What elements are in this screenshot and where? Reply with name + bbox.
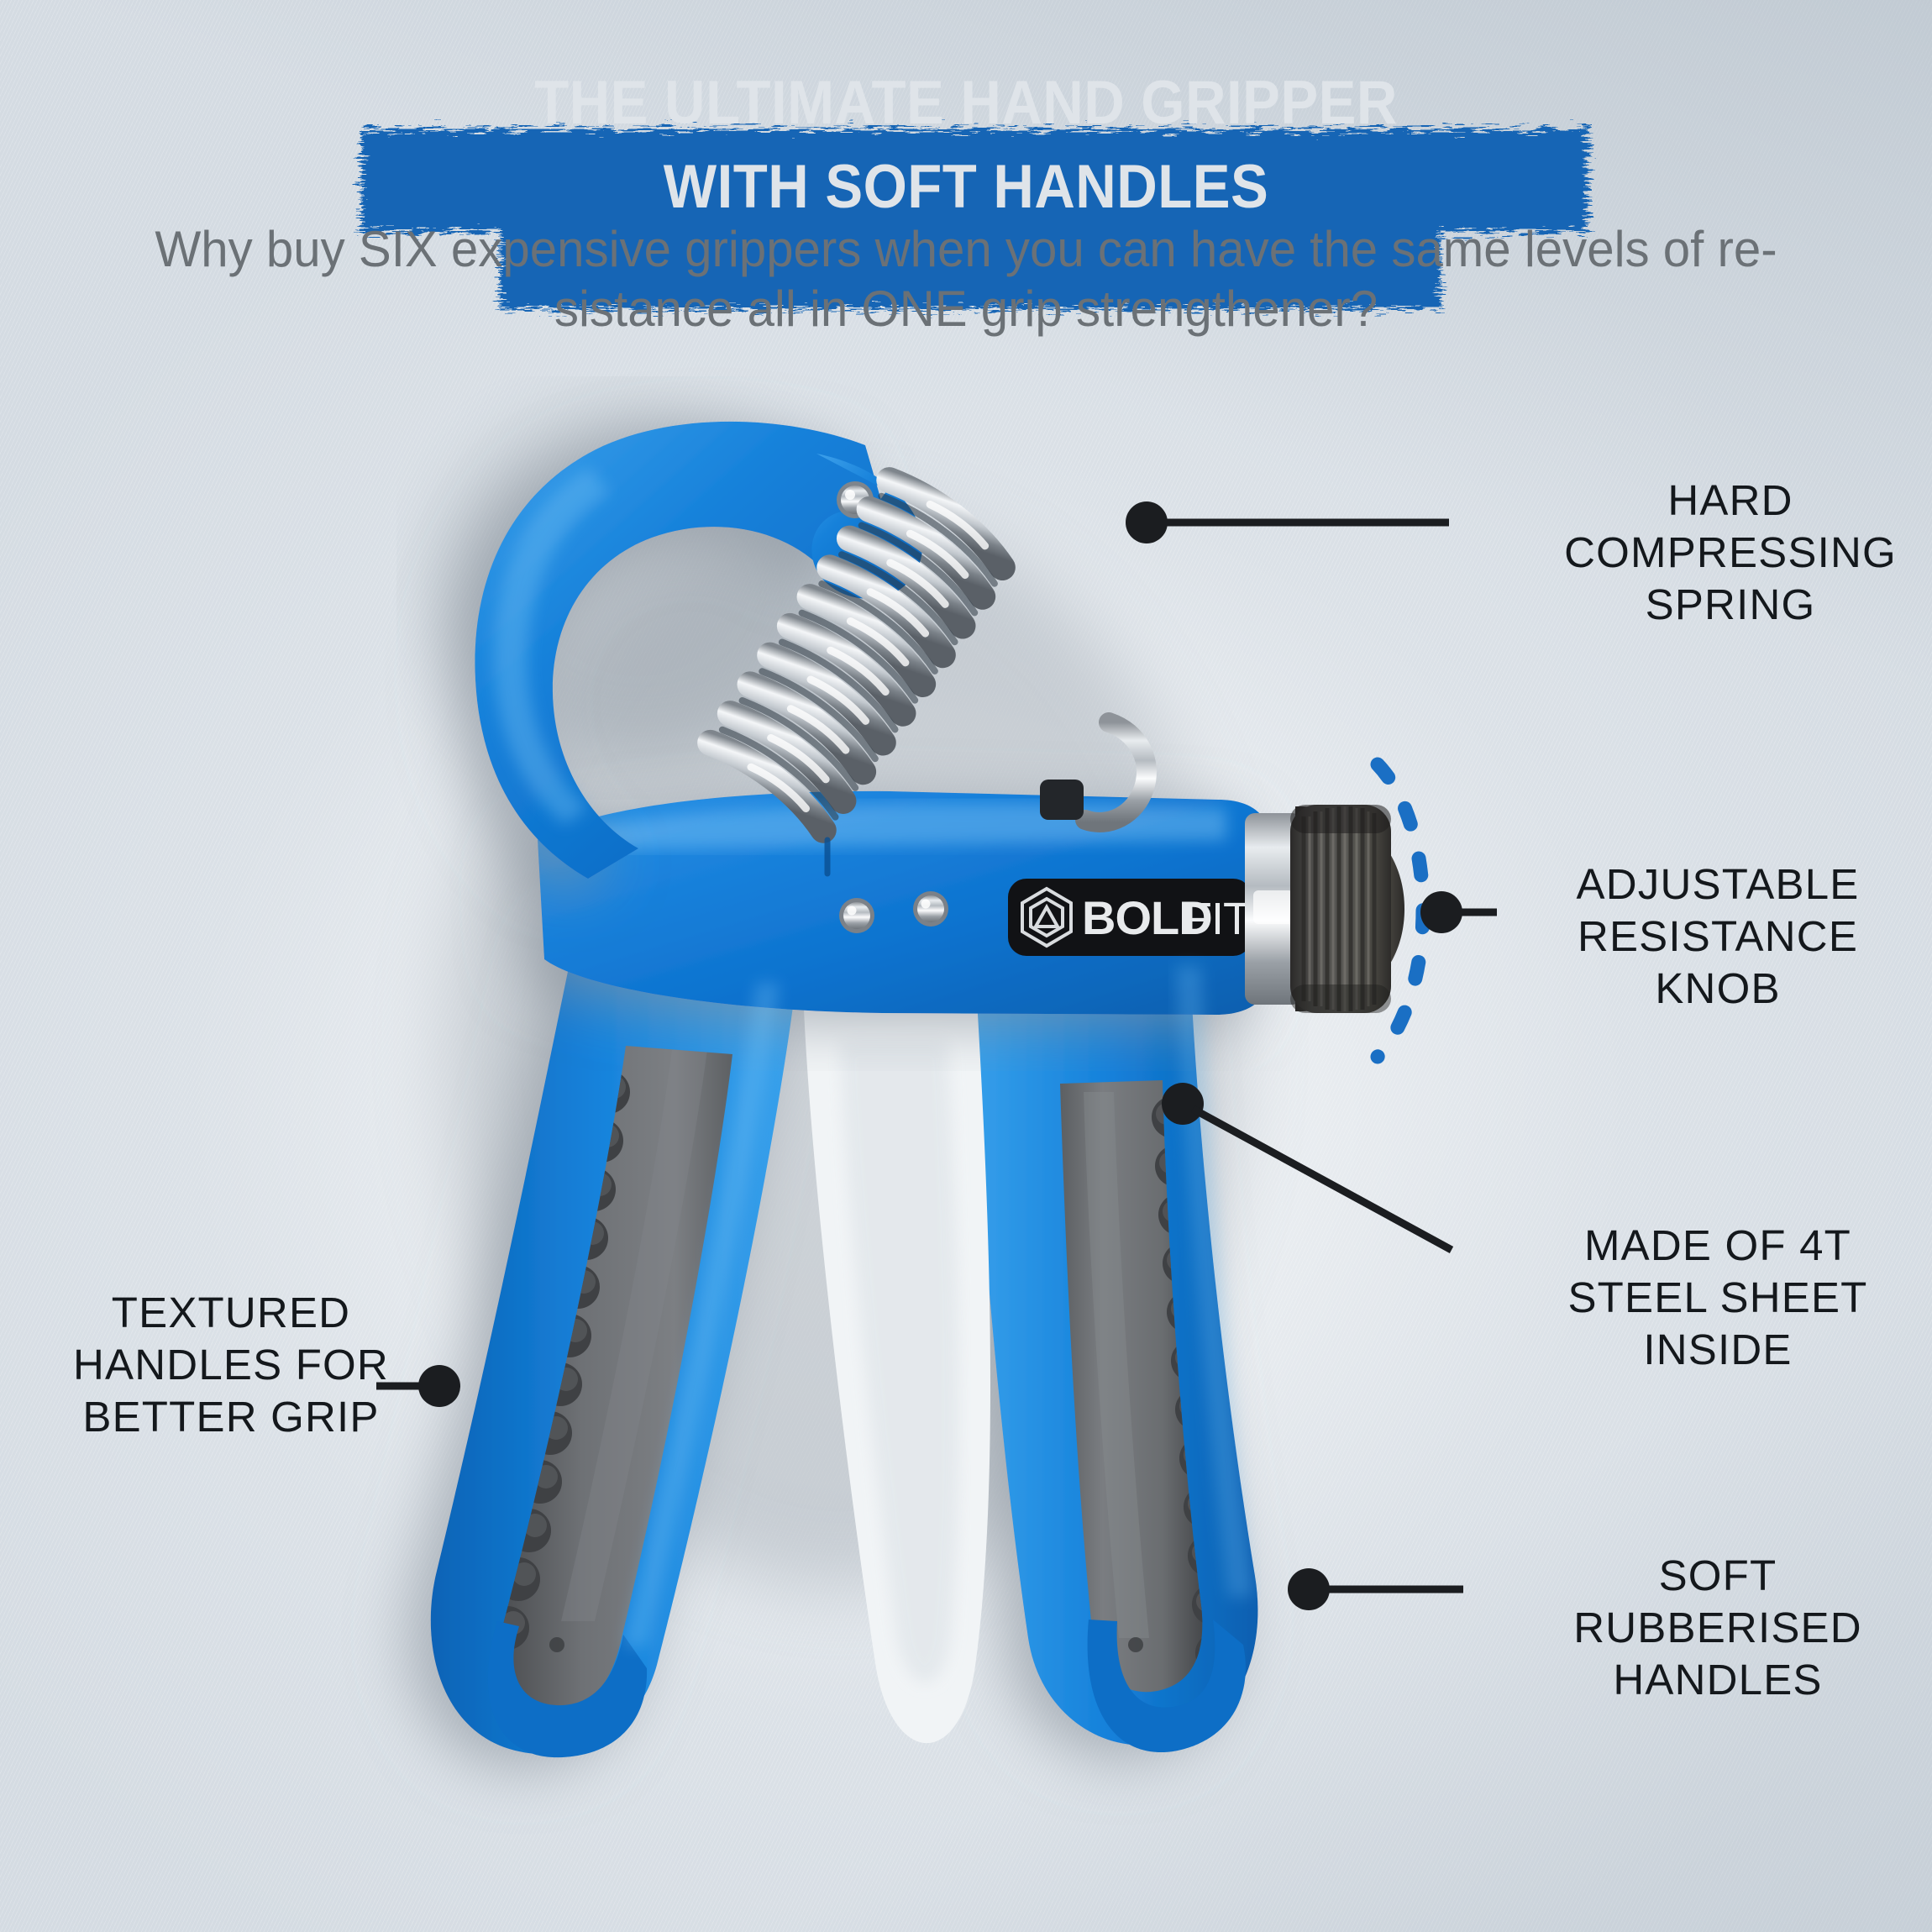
leader-steel — [1162, 1083, 1452, 1250]
callout-label-textured-handles-for-better-grip: TEXTURED HANDLES FOR BETTER GRIP — [13, 1287, 449, 1444]
callout-label-hard-compressing-spring: HARD COMPRESSING SPRING — [1520, 475, 1932, 632]
callout-label-made-of-4t-steel-sheet-inside: MADE OF 4T STEEL SHEET INSIDE — [1504, 1220, 1932, 1377]
leader-soft — [1288, 1568, 1463, 1610]
callout-label-adjustable-resistance-knob: ADJUSTABLE RESISTANCE KNOB — [1504, 858, 1932, 1016]
leader-spring — [1126, 501, 1449, 543]
callout-label-soft-rubberised-handles: SOFT RUBBERISED HANDLES — [1504, 1550, 1932, 1707]
leader-knob — [1420, 891, 1497, 933]
